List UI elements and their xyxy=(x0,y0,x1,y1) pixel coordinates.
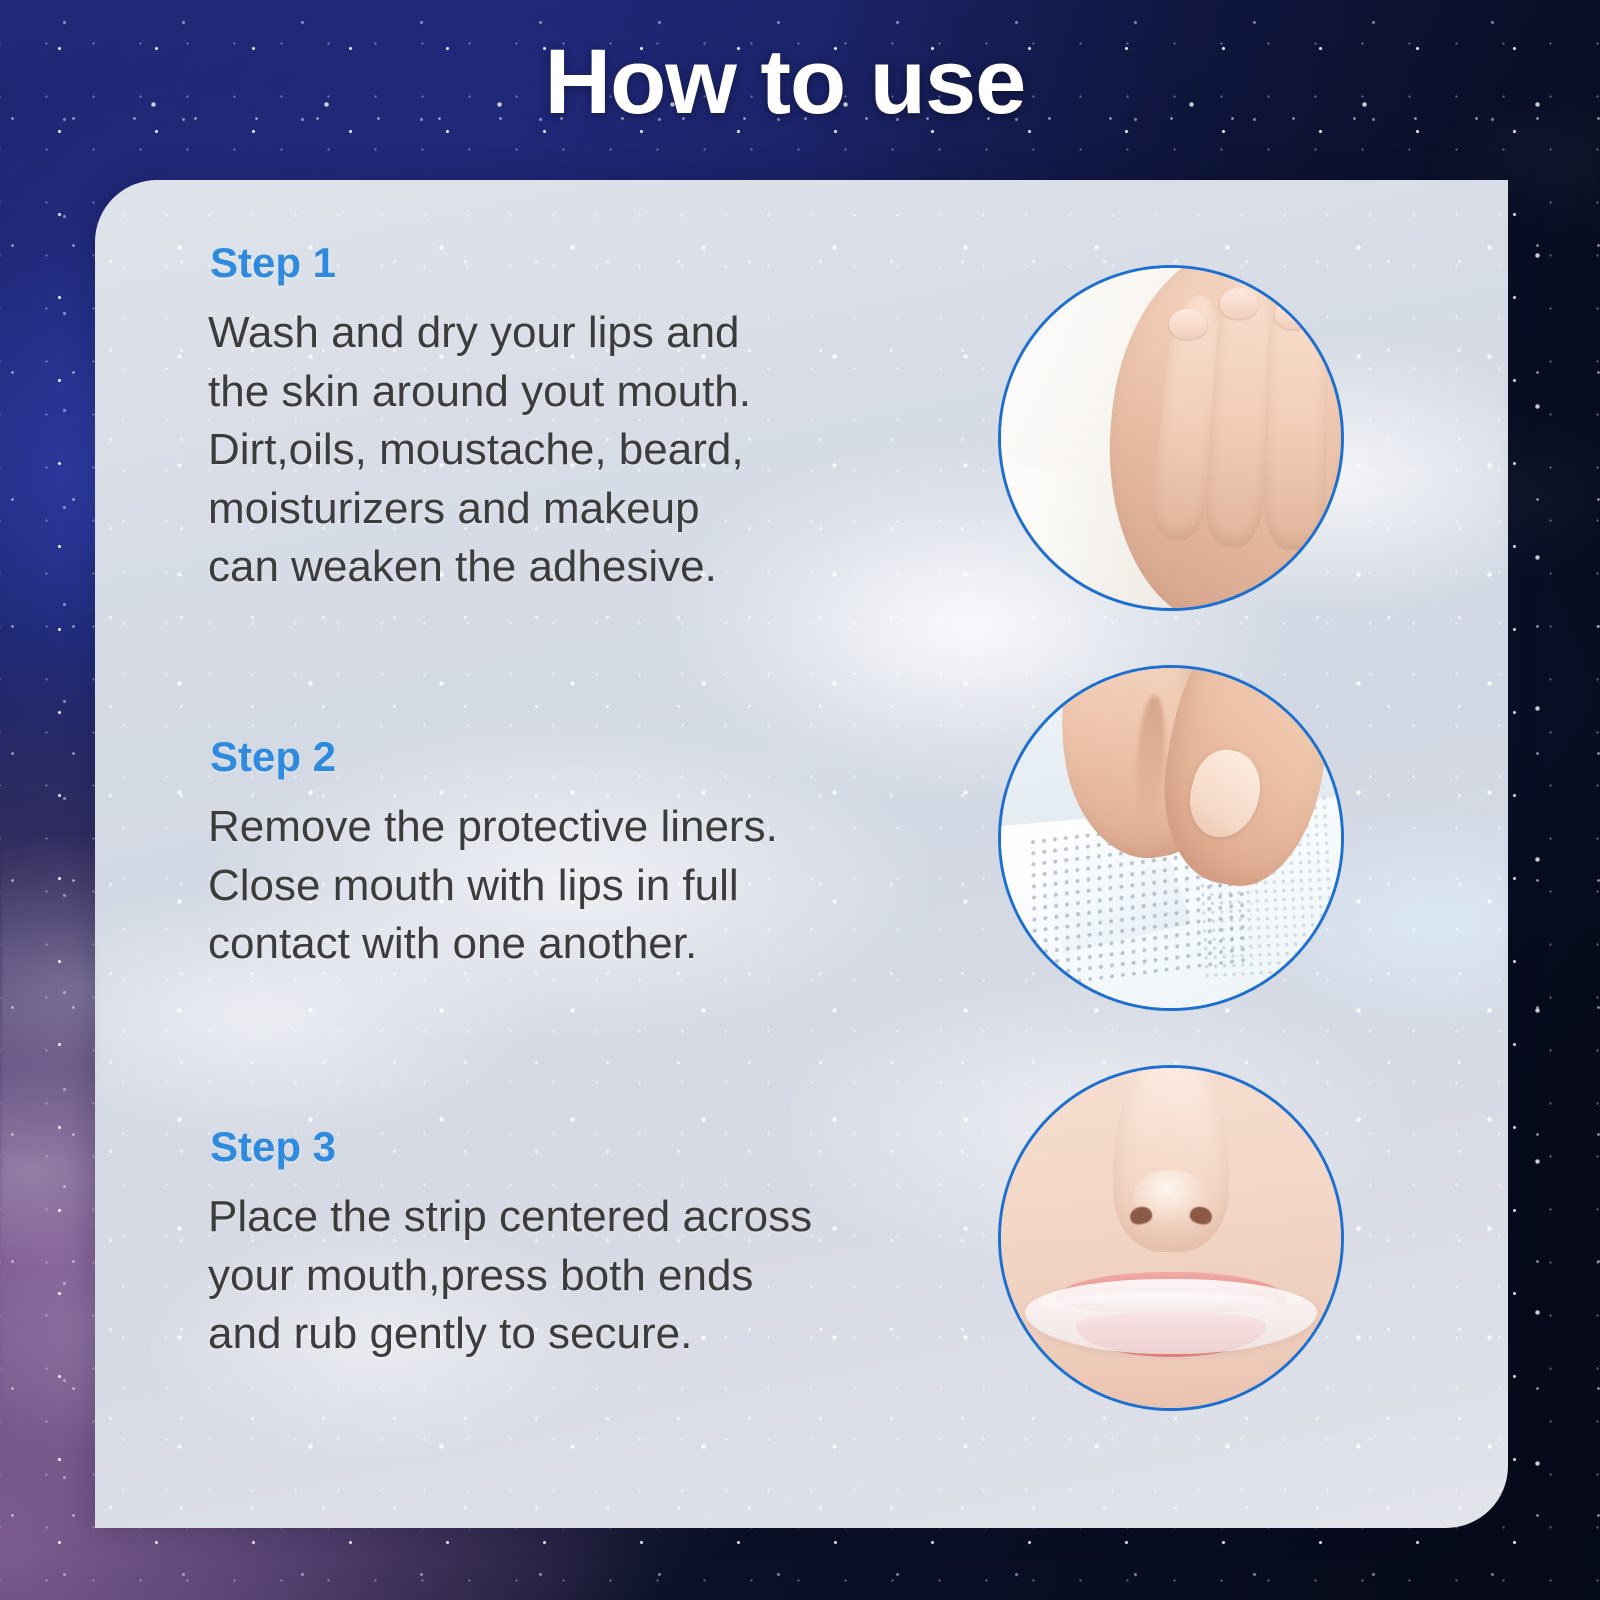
photo-1-content xyxy=(1001,268,1341,608)
step-1-body: Wash and dry your lips and the skin arou… xyxy=(208,304,998,597)
photo-2-content xyxy=(1001,668,1341,1008)
fingers-peeling-liner-off-mesh-strip-photo xyxy=(998,665,1344,1011)
fingernail-2 xyxy=(1220,288,1257,319)
step-2-body: Remove the protective liners. Close mout… xyxy=(208,798,998,974)
how-to-use-infographic: How to use Step 1 Wash and dry your lips… xyxy=(0,0,1600,1600)
step-item-3: Step 3 Place the strip centered across y… xyxy=(208,1126,998,1364)
strip-highlight xyxy=(1042,1292,1280,1316)
step-3-heading: Step 3 xyxy=(210,1126,998,1168)
mouth-with-strip-applied-photo xyxy=(998,1065,1344,1411)
fingernail-3 xyxy=(1275,299,1312,330)
nose xyxy=(1113,1068,1229,1252)
instructions-card: Step 1 Wash and dry your lips and the sk… xyxy=(95,180,1508,1528)
steps-column: Step 1 Wash and dry your lips and the sk… xyxy=(208,180,998,1528)
step-2-heading: Step 2 xyxy=(210,736,998,778)
step-3-body: Place the strip centered across your mou… xyxy=(208,1188,998,1364)
mouth-strip-applied xyxy=(1025,1279,1317,1354)
fingernail-1 xyxy=(1169,309,1206,340)
step-item-2: Step 2 Remove the protective liners. Clo… xyxy=(208,736,998,974)
step-1-heading: Step 1 xyxy=(210,242,998,284)
hand-wiping-face-with-tissue-photo xyxy=(998,265,1344,611)
page-title: How to use xyxy=(0,36,1570,128)
photo-3-content xyxy=(1001,1068,1341,1408)
step-item-1: Step 1 Wash and dry your lips and the sk… xyxy=(208,242,998,597)
